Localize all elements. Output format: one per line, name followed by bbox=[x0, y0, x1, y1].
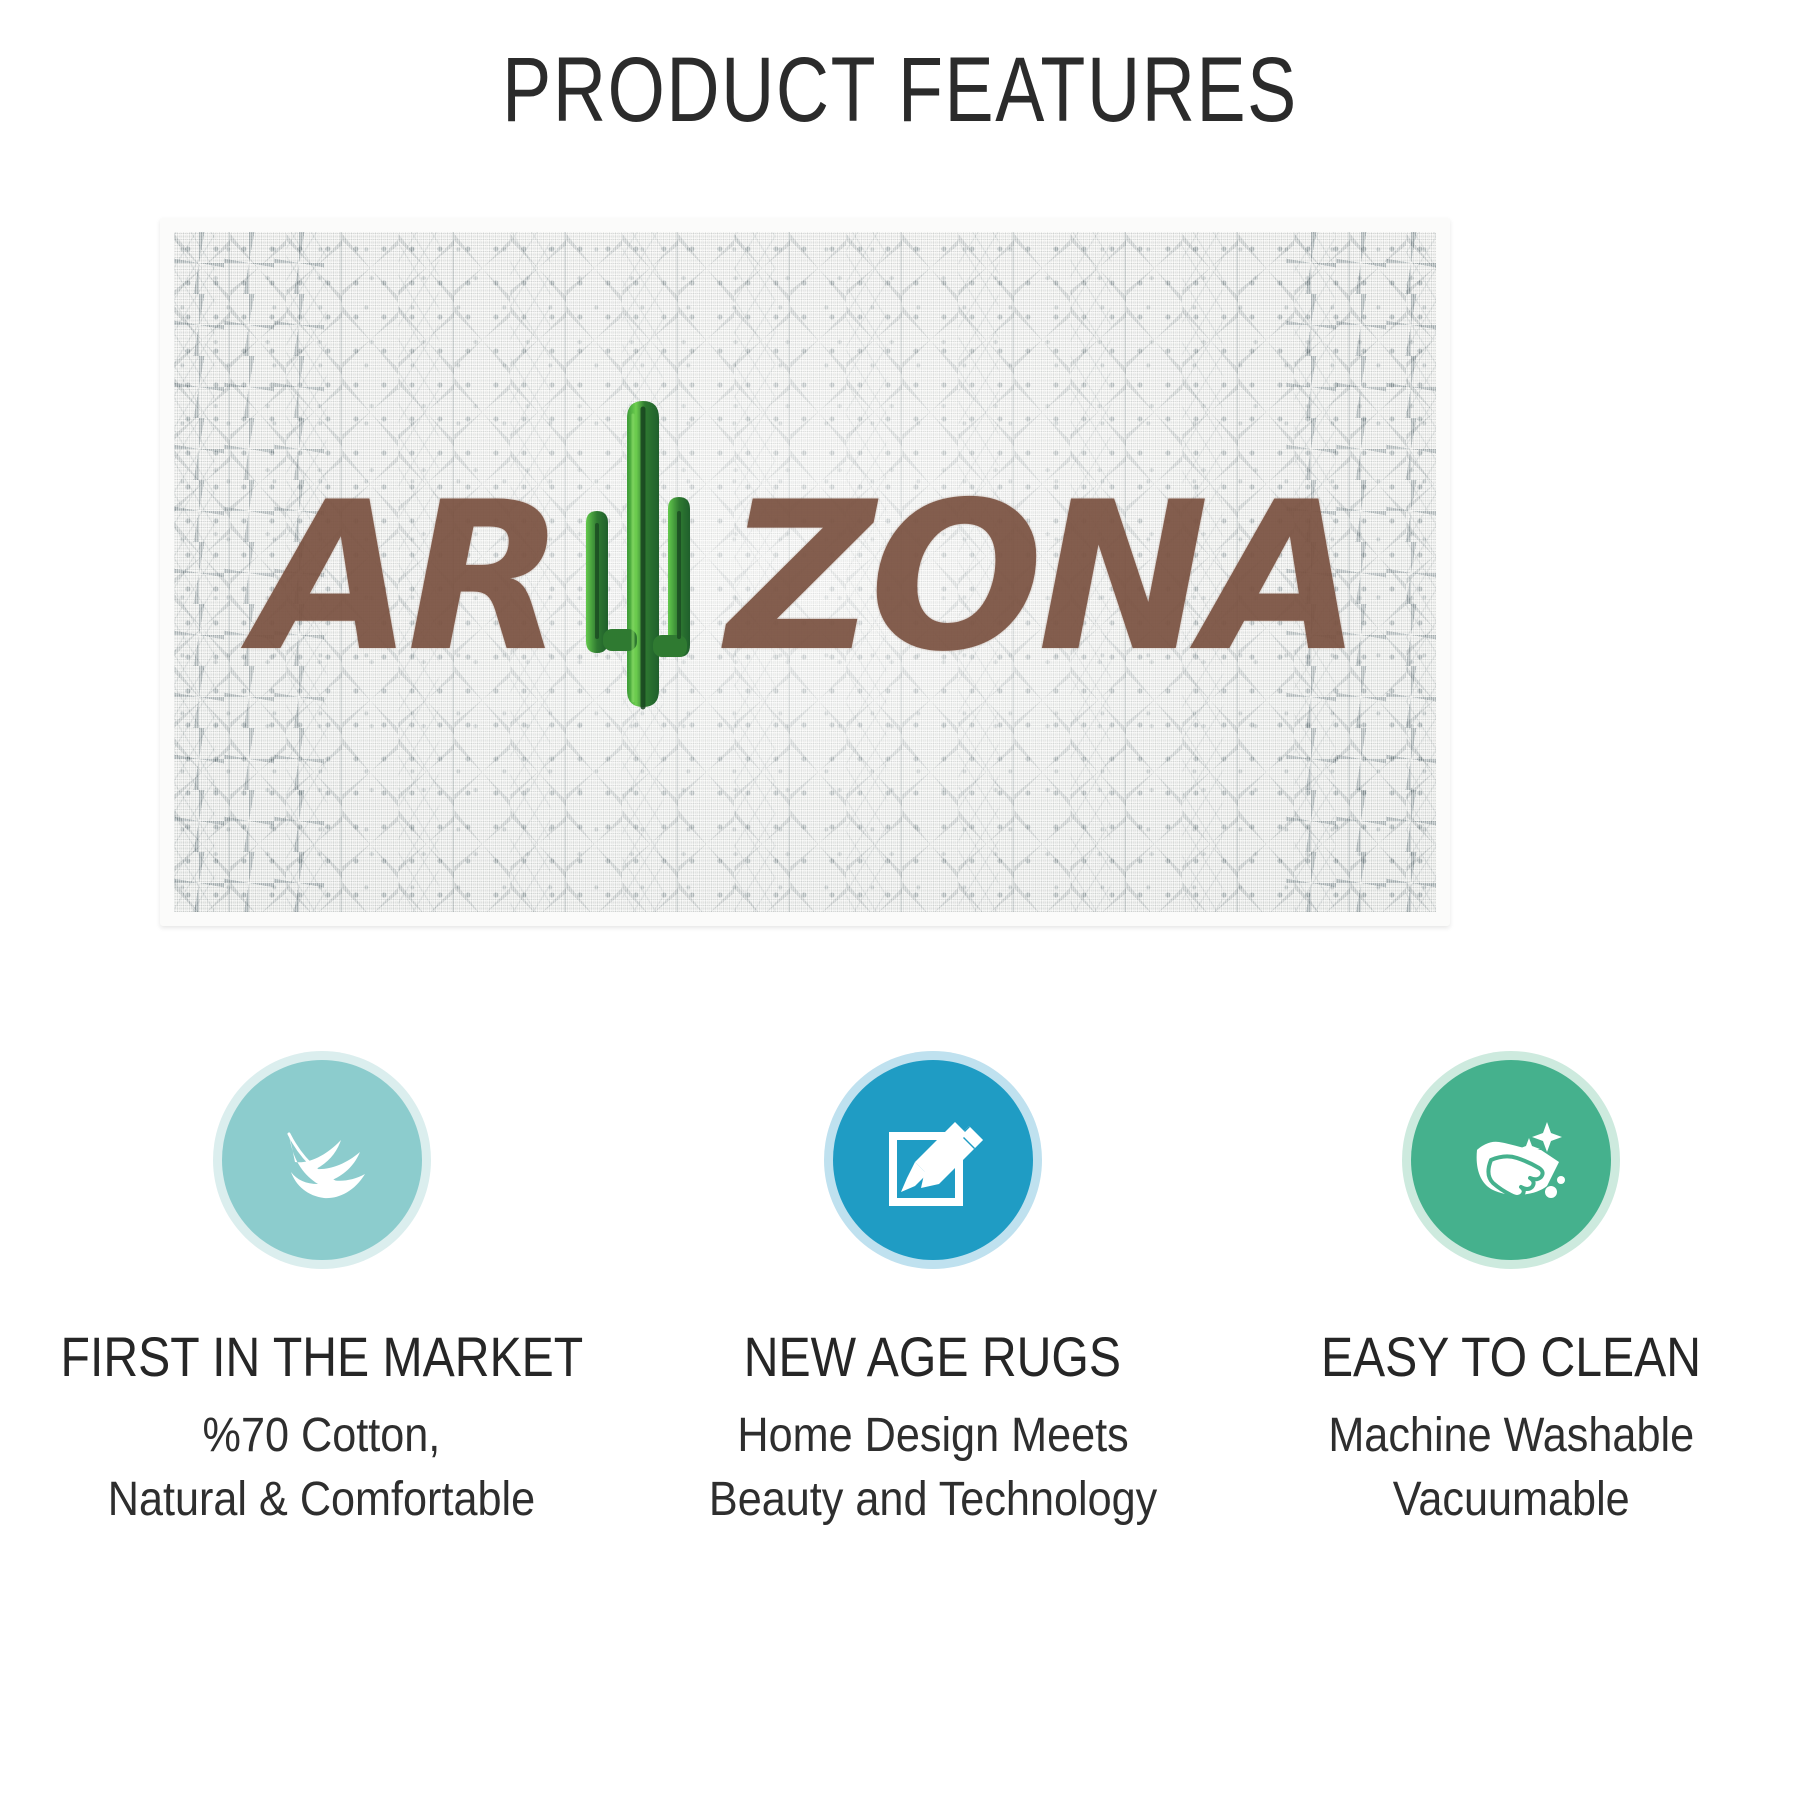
feature-badge-3 bbox=[1411, 1060, 1611, 1260]
rug-panel-right bbox=[1286, 232, 1436, 912]
feature-desc-2-line-1: Home Design Meets bbox=[709, 1404, 1157, 1468]
product-image: AR bbox=[160, 218, 1450, 926]
design-tools-icon bbox=[873, 1100, 993, 1220]
feather-icon bbox=[262, 1100, 382, 1220]
feature-title-2: NEW AGE RUGS bbox=[744, 1326, 1121, 1388]
page-title: PRODUCT FEATURES bbox=[180, 42, 1620, 139]
rug-panel-left bbox=[174, 232, 324, 912]
feature-badge-2 bbox=[833, 1060, 1033, 1260]
feature-badge-1 bbox=[222, 1060, 422, 1260]
feature-desc-1-line-1: %70 Cotton, bbox=[108, 1404, 535, 1468]
feature-item-new-age-rugs: NEW AGE RUGS Home Design Meets Beauty an… bbox=[644, 1060, 1222, 1532]
feature-desc-3: Machine Washable Vacuumable bbox=[1328, 1404, 1694, 1533]
feature-title-3: EASY TO CLEAN bbox=[1321, 1326, 1701, 1388]
cleaning-hand-icon bbox=[1451, 1100, 1571, 1220]
feature-desc-2: Home Design Meets Beauty and Technology bbox=[709, 1404, 1157, 1533]
feature-item-first-in-the-market: FIRST IN THE MARKET %70 Cotton, Natural … bbox=[0, 1060, 644, 1532]
feature-desc-1: %70 Cotton, Natural & Comfortable bbox=[108, 1404, 535, 1533]
feature-list: FIRST IN THE MARKET %70 Cotton, Natural … bbox=[0, 1060, 1800, 1532]
feature-desc-3-line-2: Vacuumable bbox=[1328, 1468, 1694, 1532]
feature-desc-2-line-2: Beauty and Technology bbox=[709, 1468, 1157, 1532]
rug-lattice-motif bbox=[174, 232, 1436, 912]
feature-item-easy-to-clean: EASY TO CLEAN Machine Washable Vacuumabl… bbox=[1222, 1060, 1800, 1532]
rug: AR bbox=[160, 218, 1450, 926]
feature-desc-1-line-2: Natural & Comfortable bbox=[108, 1468, 535, 1532]
feature-title-1: FIRST IN THE MARKET bbox=[61, 1326, 584, 1388]
feature-desc-3-line-1: Machine Washable bbox=[1328, 1404, 1694, 1468]
